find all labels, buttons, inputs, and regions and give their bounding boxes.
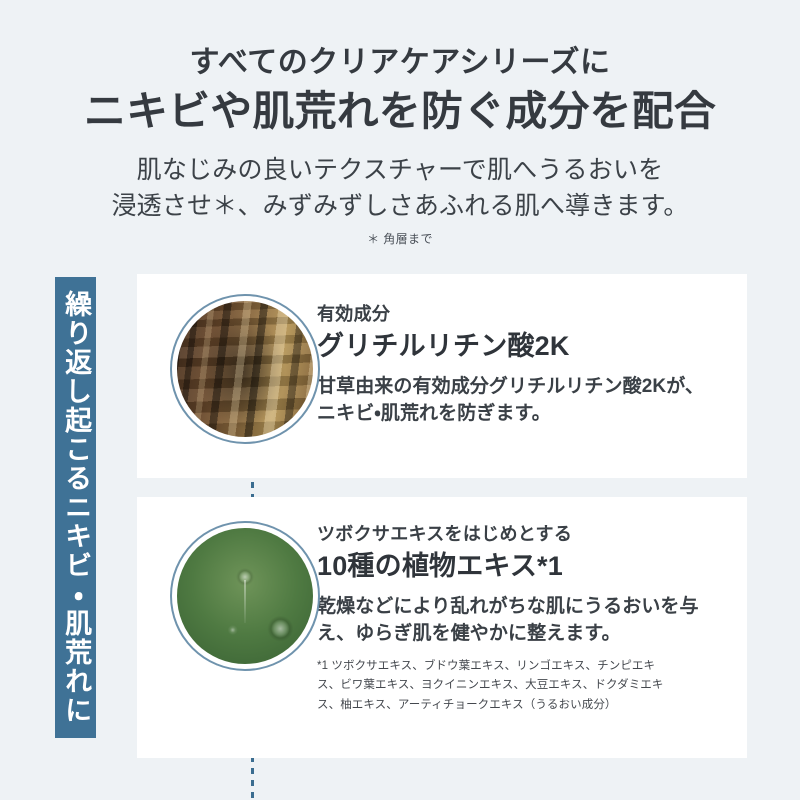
- tree-bark-photo: [177, 301, 313, 437]
- headline-main: ニキビや肌荒れを防ぐ成分を配合: [0, 85, 800, 138]
- header-section: すべてのクリアケアシリーズに ニキビや肌荒れを防ぐ成分を配合 肌なじみの良いテク…: [0, 0, 800, 247]
- subcopy: 肌なじみの良いテクスチャーで肌へうるおいを 浸透させ＊、みずみずしさあふれる肌へ…: [0, 152, 800, 225]
- ingredient-card-2: ツボクサエキスをはじめとする 10種の植物エキス*1 乾燥などにより乱れがちな肌…: [137, 497, 747, 758]
- card-1-description: 甘草由来の有効成分グリチルリチン酸2Kが、ニキビ・肌荒れを防ぎます。: [317, 373, 719, 428]
- card-2-media: [137, 497, 317, 669]
- card-2-eyebrow: ツボクサエキスをはじめとする: [317, 523, 719, 546]
- side-band-label: 繰り返し起こるニキビ・肌荒れに: [61, 290, 90, 725]
- leaf-vein: [244, 580, 246, 624]
- card-1-body: 有効成分 グリチルリチン酸2K 甘草由来の有効成分グリチルリチン酸2Kが、ニキビ…: [317, 274, 747, 428]
- fineprint-line-2: ス、ビワ葉エキス、ヨクイニンエキス、大豆エキス、ドクダミエキ: [317, 676, 719, 696]
- card-2-body: ツボクサエキスをはじめとする 10種の植物エキス*1 乾燥などにより乱れがちな肌…: [317, 497, 747, 716]
- fineprint-line-3: ス、柚エキス、アーティチョークエキス（うるおい成分）: [317, 696, 719, 716]
- card-2-description: 乾燥などにより乱れがちな肌にうるおいを与え、ゆらぎ肌を健やかに整えます。: [317, 593, 719, 648]
- card-2-title: 10種の植物エキス*1: [317, 549, 719, 584]
- green-leaf-with-water-droplets-photo: [177, 528, 313, 664]
- card-2-fineprint: *1 ツボクサエキス、ブドウ葉エキス、リンゴエキス、チンピエキ ス、ビワ葉エキス…: [317, 657, 719, 716]
- card-1-media: [137, 274, 317, 442]
- subcopy-line-2: 浸透させ＊、みずみずしさあふれる肌へ導きます。: [0, 188, 800, 224]
- card-1-title: グリチルリチン酸2K: [317, 329, 719, 364]
- card-1-eyebrow: 有効成分: [317, 303, 719, 326]
- card-1-circle-frame: [172, 296, 318, 442]
- vertical-side-band: 繰り返し起こるニキビ・肌荒れに: [55, 277, 96, 738]
- headline-top: すべてのクリアケアシリーズに: [0, 44, 800, 82]
- subcopy-footnote: ＊ 角層まで: [0, 230, 800, 247]
- ingredient-card-1: 有効成分 グリチルリチン酸2K 甘草由来の有効成分グリチルリチン酸2Kが、ニキビ…: [137, 274, 747, 478]
- subcopy-line-1: 肌なじみの良いテクスチャーで肌へうるおいを: [0, 152, 800, 188]
- fineprint-line-1: *1 ツボクサエキス、ブドウ葉エキス、リンゴエキス、チンピエキ: [317, 657, 719, 677]
- infographic-page: すべてのクリアケアシリーズに ニキビや肌荒れを防ぐ成分を配合 肌なじみの良いテク…: [0, 0, 800, 800]
- card-2-circle-frame: [172, 523, 318, 669]
